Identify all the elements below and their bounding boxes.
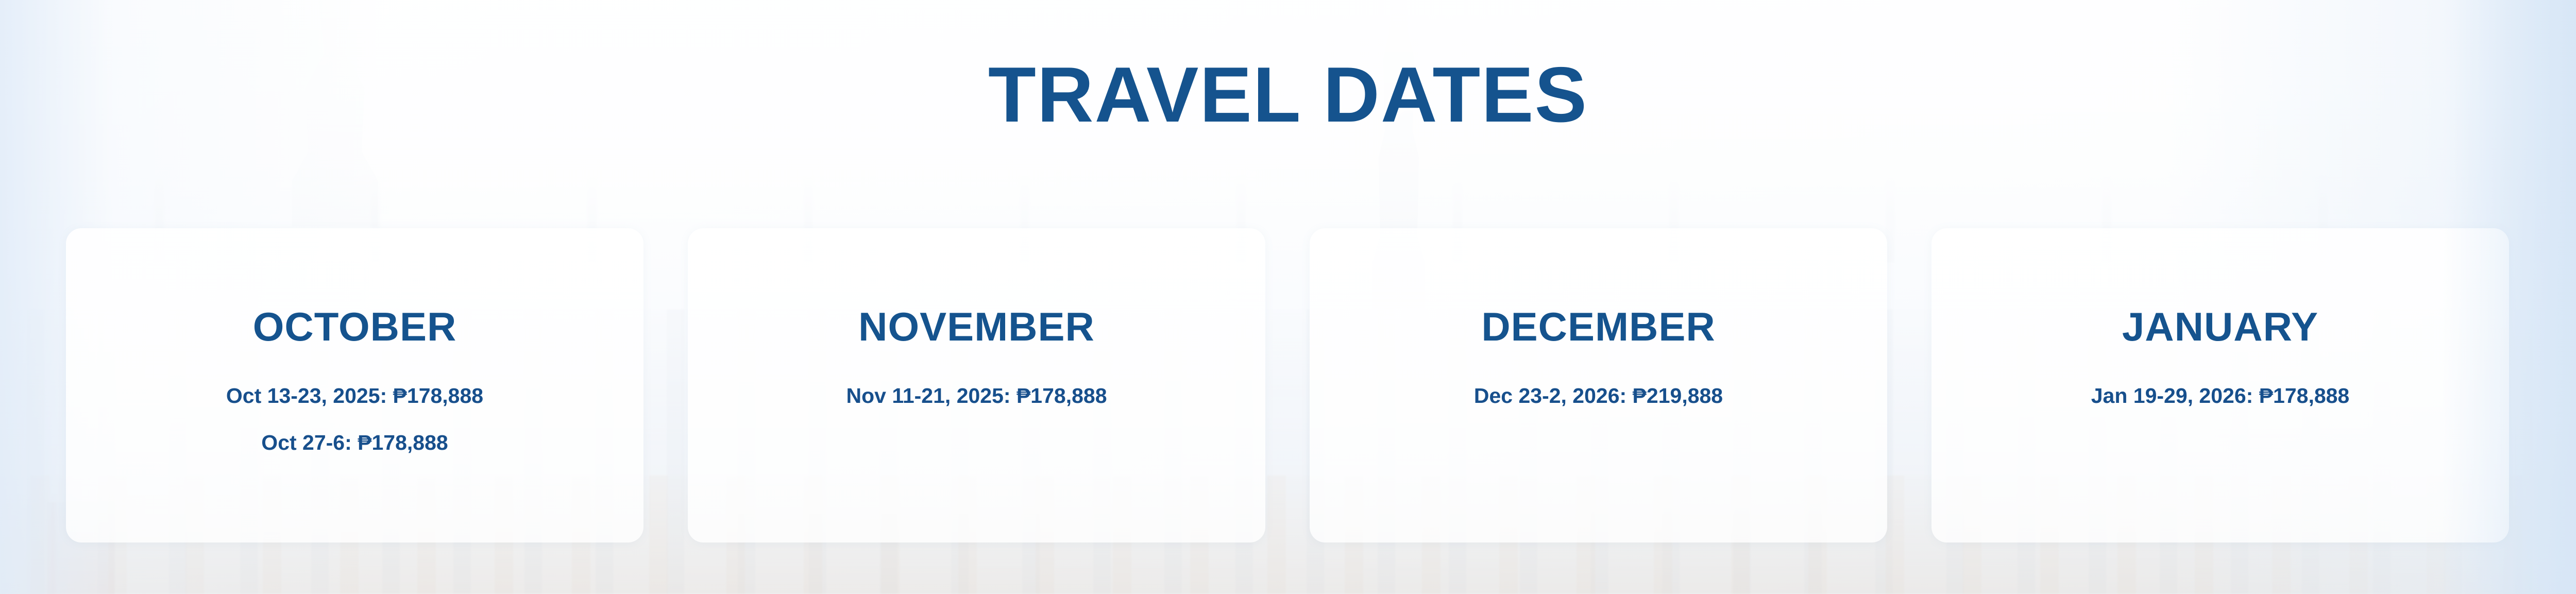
card-date-price-line: Oct 27-6: ₱178,888 [261,431,448,455]
travel-date-card-october[interactable]: OCTOBER Oct 13-23, 2025: ₱178,888 Oct 27… [66,228,643,542]
card-date-price-line: Dec 23-2, 2026: ₱219,888 [1474,384,1723,408]
card-date-list: Nov 11-21, 2025: ₱178,888 [688,384,1265,408]
travel-date-card-january[interactable]: JANUARY Jan 19-29, 2026: ₱178,888 [1931,228,2509,542]
card-date-price-line: Oct 13-23, 2025: ₱178,888 [226,384,483,408]
card-month-label: NOVEMBER [858,307,1095,347]
card-date-list: Oct 13-23, 2025: ₱178,888 Oct 27-6: ₱178… [66,384,643,455]
card-date-price-line: Nov 11-21, 2025: ₱178,888 [846,384,1107,408]
card-date-price-line: Jan 19-29, 2026: ₱178,888 [2091,384,2350,408]
card-date-list: Jan 19-29, 2026: ₱178,888 [1931,384,2509,408]
card-month-label: JANUARY [2122,307,2318,347]
travel-date-card-december[interactable]: DECEMBER Dec 23-2, 2026: ₱219,888 [1310,228,1887,542]
card-month-label: DECEMBER [1481,307,1715,347]
travel-dates-banner: TRAVEL DATES OCTOBER Oct 13-23, 2025: ₱1… [0,0,2576,594]
card-date-list: Dec 23-2, 2026: ₱219,888 [1310,384,1887,408]
page-title: TRAVEL DATES [0,56,2576,134]
travel-date-card-list: OCTOBER Oct 13-23, 2025: ₱178,888 Oct 27… [66,228,2509,542]
travel-date-card-november[interactable]: NOVEMBER Nov 11-21, 2025: ₱178,888 [688,228,1265,542]
card-month-label: OCTOBER [253,307,457,347]
